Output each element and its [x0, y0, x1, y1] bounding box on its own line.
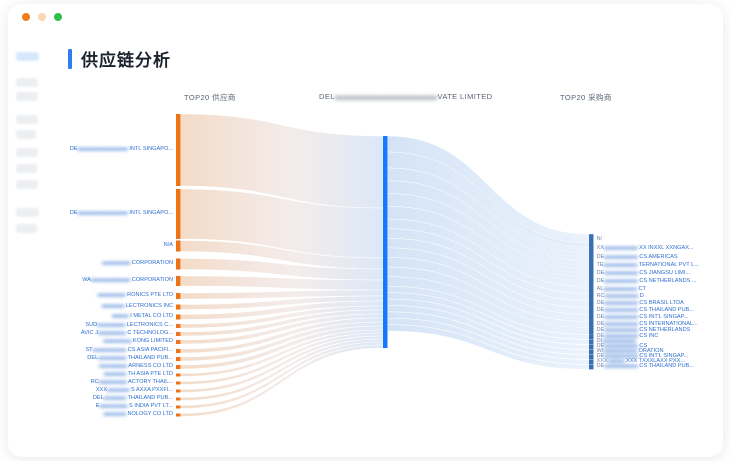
label-suffix: TH ASIA PTE LTD: [126, 371, 173, 377]
label-suffix: KONG LIMITED: [131, 338, 173, 344]
sankey-target-node[interactable]: [589, 234, 594, 246]
label-redacted: ▬▬▬▬▬: [98, 330, 126, 336]
sankey-source-node[interactable]: [176, 349, 181, 353]
label-prefix: N/: [597, 236, 603, 242]
label-suffix: ACTORY THAIL...: [127, 379, 173, 385]
sankey-source-node[interactable]: [176, 276, 181, 286]
label-suffix: CS THAILAND PUB...: [638, 363, 694, 369]
title-accent-bar: [68, 49, 72, 69]
sankey-link-left[interactable]: [181, 310, 384, 336]
sankey-link-left[interactable]: [181, 342, 384, 409]
sankey-target-label: TE▬▬▬▬▬▬ TERNATIONAL PVT L...: [597, 263, 699, 269]
label-suffix: NOLOGY CO LTD: [126, 411, 173, 417]
sankey-source-label: ▬▬▬ I METAL CO LTD: [112, 314, 173, 320]
sankey-target-node[interactable]: [589, 321, 594, 328]
app-root: 供应链分析 TOP20 供应商 DEL▬▬▬▬▬▬▬▬▬▬▬▬▬VATE LIM…: [0, 0, 731, 461]
sankey-link-right[interactable]: [388, 206, 590, 286]
sankey-target-node[interactable]: [589, 365, 594, 370]
sankey-link-left[interactable]: [181, 276, 384, 290]
maximize-icon[interactable]: [54, 13, 62, 21]
column-caption-suppliers: TOP20 供应商: [184, 92, 236, 103]
label-suffix: S AXXA PXXFI...: [129, 387, 173, 393]
sankey-link-left[interactable]: [181, 345, 384, 417]
label-suffix: CS BRASIL LTDA: [638, 300, 684, 306]
label-suffix: S INDIA PVT LT...: [128, 403, 174, 409]
sankey-target-node[interactable]: [589, 277, 594, 286]
sankey-source-node[interactable]: [176, 189, 181, 239]
traffic-light-dots: [22, 13, 62, 21]
browser-window: 供应链分析 TOP20 供应商 DEL▬▬▬▬▬▬▬▬▬▬▬▬▬VATE LIM…: [8, 4, 723, 457]
sankey-source-label: SUD▬▬▬▬▬ LECTRONICS C...: [85, 323, 173, 329]
label-redacted: ▬▬▬▬▬: [98, 355, 126, 361]
label-prefix: DE: [597, 307, 605, 313]
label-redacted: ▬▬▬▬▬: [103, 338, 131, 344]
label-prefix: RC: [597, 293, 605, 299]
sankey-link-right[interactable]: [388, 229, 590, 301]
sankey-source-node[interactable]: [176, 305, 181, 310]
label-prefix: DE: [597, 278, 605, 284]
sankey-link-right[interactable]: [388, 248, 590, 315]
sankey-source-node[interactable]: [176, 357, 181, 361]
sankey-link-right[interactable]: [388, 152, 590, 255]
sankey-source-node[interactable]: [176, 340, 181, 344]
label-suffix: LECTRONICS C...: [125, 322, 173, 328]
sankey-source-label: DE▬▬▬▬▬▬▬▬▬ INTL SINGAPO...: [70, 147, 173, 153]
sankey-source-label: ▬▬▬▬ NOLOGY CO LTD: [104, 412, 173, 418]
sankey-source-label: ▬▬▬▬▬ KONG LIMITED: [103, 339, 173, 345]
label-suffix: CS INC: [638, 333, 659, 339]
label-redacted: ▬▬▬▬▬▬: [604, 245, 638, 251]
label-prefix: DE: [597, 314, 605, 320]
label-prefix: WA: [82, 277, 91, 283]
sidebar-item-8[interactable]: [16, 180, 38, 189]
sankey-source-node[interactable]: [176, 259, 181, 270]
sankey-target-node[interactable]: [589, 340, 594, 345]
label-suffix: XX INXXL XXNGAX...: [638, 245, 694, 251]
label-prefix: DEL: [87, 355, 98, 361]
sankey-source-label: DEL▬▬▬▬▬ THAILAND PUB...: [87, 356, 173, 362]
sankey-source-label: DEL▬▬▬▬ THAILAND PUB...: [93, 396, 173, 402]
label-redacted: ▬▬▬▬▬▬▬▬▬: [77, 210, 127, 216]
column-caption-hub: DEL▬▬▬▬▬▬▬▬▬▬▬▬▬VATE LIMITED: [319, 92, 492, 101]
label-suffix: ARNESS CO LTD: [127, 363, 173, 369]
sankey-link-right[interactable]: [388, 238, 590, 307]
sankey-link-left[interactable]: [181, 259, 384, 281]
label-suffix: INTL SINGAPO...: [128, 146, 173, 152]
label-prefix: XXX: [96, 387, 107, 393]
sankey-source-label: XXX▬▬▬▬ S AXXA PXXFI...: [96, 388, 173, 394]
sankey-link-left[interactable]: [181, 326, 384, 369]
sankey-link-right[interactable]: [388, 325, 590, 370]
hub-caption-redacted: ▬▬▬▬▬▬▬▬▬▬▬▬▬: [335, 92, 438, 101]
sankey-target-node[interactable]: [589, 269, 594, 278]
sankey-target-node[interactable]: [589, 350, 594, 355]
hub-caption-suffix: VATE LIMITED: [438, 92, 493, 101]
sankey-link-right[interactable]: [388, 318, 590, 364]
sankey-link-right[interactable]: [388, 136, 590, 246]
sankey-source-label: ▬▬▬▬▬ CORPORATION: [102, 261, 173, 267]
sankey-source-label: WA▬▬▬▬▬▬▬ CORPORATION: [82, 278, 173, 284]
label-suffix: CS INT'L SINGAP...: [638, 314, 689, 320]
hub-caption-prefix: DEL: [319, 92, 335, 101]
sidebar-item-7[interactable]: [16, 164, 37, 173]
label-prefix: DE: [597, 300, 605, 306]
label-suffix: CS NETHERLANDS ...: [638, 278, 697, 284]
sankey-links-right: [388, 136, 590, 369]
label-prefix: AVIC J: [81, 330, 98, 336]
sankey-link-right[interactable]: [388, 168, 590, 263]
sankey-target-node[interactable]: [589, 335, 594, 340]
sankey-target-node[interactable]: [589, 345, 594, 350]
label-redacted: ▬▬▬▬▬: [98, 292, 126, 298]
label-prefix: AL: [597, 286, 604, 292]
sankey-source-node[interactable]: [176, 332, 181, 336]
sankey-target-label: DE▬▬▬▬▬▬ CS NETHERLANDS ...: [597, 279, 697, 285]
sankey-source-label: E▬▬▬▬▬ S INDIA PVT LT...: [96, 404, 173, 410]
sankey-link-right[interactable]: [388, 219, 590, 293]
sankey-source-node[interactable]: [176, 382, 181, 385]
sankey-link-left[interactable]: [181, 318, 384, 353]
label-redacted: ▬▬▬▬▬▬: [605, 293, 639, 299]
label-redacted: ▬▬▬▬▬▬: [93, 347, 127, 353]
sankey-source-label: DE▬▬▬▬▬▬▬▬▬ INTL SINGAPO...: [70, 211, 173, 217]
sankey-target-node[interactable]: [589, 307, 594, 314]
label-prefix: DE: [70, 210, 78, 216]
label-prefix: DE: [597, 270, 605, 276]
label-prefix: DE: [70, 146, 78, 152]
sankey-source-node[interactable]: [176, 315, 181, 320]
sankey-source-node[interactable]: [176, 293, 181, 299]
label-redacted: ▬▬▬▬▬: [100, 403, 128, 409]
sidebar-item-9[interactable]: [16, 208, 39, 217]
sankey-link-left[interactable]: [181, 333, 384, 385]
sidebar-item-4[interactable]: [16, 115, 38, 124]
label-suffix: N/A: [164, 242, 173, 248]
sankey-link-right[interactable]: [388, 299, 590, 349]
label-redacted: ▬▬▬▬: [104, 395, 126, 401]
sankey-target-node[interactable]: [589, 360, 594, 365]
sankey-target-label: RC▬▬▬▬▬▬ D: [597, 294, 644, 300]
sankey-source-label: ▬▬▬▬▬ ARNESS CO LTD: [99, 364, 173, 370]
sankey-source-label: ▬▬▬▬ TH ASIA PTE LTD: [104, 372, 173, 378]
sankey-source-node[interactable]: [176, 406, 181, 409]
sankey-source-node[interactable]: [176, 114, 181, 186]
sankey-source-node[interactable]: [176, 324, 181, 328]
label-redacted: ▬▬▬▬: [107, 387, 129, 393]
label-redacted: ▬▬▬▬▬: [97, 322, 125, 328]
sidebar-item-10[interactable]: [16, 224, 37, 233]
sankey-link-right[interactable]: [388, 277, 590, 335]
label-suffix: THAILAND PUB...: [126, 355, 173, 361]
sidebar-item-2[interactable]: [16, 78, 38, 87]
label-redacted: ▬▬▬▬▬▬: [604, 262, 638, 268]
label-prefix: RC: [91, 379, 99, 385]
sidebar-item-6[interactable]: [16, 148, 38, 157]
sankey-hub-node[interactable]: [383, 136, 388, 348]
label-redacted: ▬▬▬▬: [104, 411, 126, 417]
sankey-target-label: N/: [597, 237, 603, 243]
label-suffix: CORPORATION: [130, 260, 173, 266]
label-prefix: DE: [597, 363, 605, 369]
sankey-source-label: ST▬▬▬▬▬▬ CS ASIA PACIFI...: [85, 348, 173, 354]
page-title-group: 供应链分析: [68, 46, 171, 71]
sankey-target-node[interactable]: [589, 300, 594, 307]
label-suffix: CS JIANGSU LIMI...: [638, 270, 690, 276]
label-suffix: CS ASIA PACIFI...: [126, 347, 173, 353]
sankey-link-right[interactable]: [388, 286, 590, 339]
label-redacted: ▬▬▬: [112, 313, 129, 319]
sankey-link-left[interactable]: [181, 189, 384, 258]
label-redacted: ▬▬▬▬: [102, 303, 124, 309]
sankey-target-label: AL▬▬▬▬▬▬ CT: [597, 287, 646, 293]
sankey-target-label: DE▬▬▬▬▬▬ CS INT'L SINGAP...: [597, 315, 689, 321]
sankey-link-right[interactable]: [388, 312, 590, 359]
sankey-target-node[interactable]: [589, 293, 594, 300]
sankey-link-left[interactable]: [181, 306, 384, 328]
sankey-link-right[interactable]: [388, 293, 590, 345]
label-suffix: I METAL CO LTD: [129, 313, 173, 319]
page-title: 供应链分析: [81, 46, 171, 71]
sankey-link-right[interactable]: [388, 194, 590, 279]
sankey-source-node[interactable]: [176, 241, 181, 252]
close-icon[interactable]: [22, 13, 30, 21]
sankey-target-node[interactable]: [589, 286, 594, 293]
label-suffix: CT: [637, 286, 646, 292]
label-prefix: DE: [597, 254, 605, 260]
label-suffix: LECTRONICS INC: [124, 303, 173, 309]
sankey-link-left[interactable]: [181, 290, 384, 299]
label-suffix: INTL SINGAPO...: [128, 210, 173, 216]
sankey-link-left[interactable]: [181, 301, 384, 320]
sankey-link-left[interactable]: [181, 296, 384, 310]
sankey-link-right[interactable]: [388, 305, 590, 354]
sankey-target-label: DE▬▬▬▬▬▬ CS JIANGSU LIMI...: [597, 271, 691, 277]
sankey-target-node[interactable]: [589, 243, 594, 255]
sankey-target-node[interactable]: [589, 355, 594, 360]
sidebar-item-3[interactable]: [16, 92, 38, 101]
sankey-link-left[interactable]: [181, 339, 384, 401]
sankey-link-right[interactable]: [388, 258, 590, 322]
sankey-target-label: DE▬▬▬▬▬▬ CS THAILAND PUB...: [597, 308, 695, 314]
label-redacted: ▬▬▬▬▬▬▬▬▬: [77, 146, 127, 152]
label-suffix: C TECHNOLOG...: [126, 330, 173, 336]
label-suffix: D: [638, 293, 644, 299]
label-redacted: ▬▬▬▬▬▬: [604, 300, 638, 306]
sidebar-item-1[interactable]: [16, 52, 39, 61]
sidebar-item-5[interactable]: [16, 130, 36, 139]
sankey-link-right[interactable]: [388, 267, 590, 328]
sankey-source-label: N/A: [164, 243, 173, 249]
label-redacted: ▬▬▬▬▬▬: [604, 270, 638, 276]
label-redacted: ▬▬▬▬▬▬: [604, 363, 638, 369]
label-suffix: CS THAILAND PUB...: [638, 307, 694, 313]
sankey-target-node[interactable]: [589, 261, 594, 270]
label-suffix: CS AMERICAS: [638, 254, 678, 260]
sidebar: [8, 30, 46, 457]
label-redacted: ▬▬▬▬▬▬: [603, 286, 637, 292]
sankey-target-label: DE▬▬▬▬▬▬ CS AMERICAS: [597, 255, 678, 261]
label-redacted: ▬▬▬▬▬▬: [604, 278, 638, 284]
sankey-source-node[interactable]: [176, 374, 181, 377]
sankey-link-left[interactable]: [181, 241, 384, 270]
sankey-link-left[interactable]: [181, 330, 384, 377]
column-caption-buyers: TOP20 采购商: [560, 92, 612, 103]
label-redacted: ▬▬▬▬▬▬▬: [91, 277, 130, 283]
sankey-link-left[interactable]: [181, 336, 384, 393]
minimize-icon[interactable]: [38, 13, 46, 21]
sankey-target-label: DE▬▬▬▬▬▬ CS THAILAND PUB...: [597, 364, 695, 370]
sankey-source-node[interactable]: [176, 414, 181, 417]
sankey-link-left[interactable]: [181, 114, 384, 208]
label-suffix: CORPORATION: [130, 277, 173, 283]
sankey-link-left[interactable]: [181, 314, 384, 344]
label-redacted: ▬▬▬▬▬: [99, 363, 127, 369]
label-suffix: THAILAND PUB...: [126, 395, 173, 401]
label-suffix: RONICS PTE LTD: [126, 292, 173, 298]
label-suffix: TERNATIONAL PVT L...: [637, 262, 699, 268]
sankey-nodes: [176, 114, 594, 417]
sankey-source-label: AVIC J▬▬▬▬▬ C TECHNOLOG...: [81, 331, 173, 337]
sankey-target-label: DE▬▬▬▬▬▬ CS BRASIL LTDA: [597, 301, 684, 307]
label-redacted: ▬▬▬▬▬▬: [604, 254, 638, 260]
label-prefix: SUD: [85, 322, 97, 328]
sankey-target-node[interactable]: [589, 314, 594, 321]
label-redacted: ▬▬▬▬▬: [99, 379, 127, 385]
label-redacted: ▬▬▬▬▬: [102, 260, 130, 266]
window-titlebar: [8, 4, 723, 30]
sankey-source-label: ▬▬▬▬▬ RONICS PTE LTD: [98, 293, 173, 299]
sankey-source-node[interactable]: [176, 390, 181, 393]
label-redacted: ▬▬▬▬▬▬: [604, 314, 638, 320]
sankey-links-left: [181, 114, 384, 417]
label-prefix: DEL: [93, 395, 104, 401]
sankey-source-label: ▬▬▬▬ LECTRONICS INC: [102, 304, 173, 310]
sankey-target-node[interactable]: [589, 253, 594, 262]
sankey-target-label: XX▬▬▬▬▬▬ XX INXXL XXNGAX...: [597, 246, 694, 252]
label-redacted: ▬▬▬▬: [104, 371, 126, 377]
sankey-source-node[interactable]: [176, 365, 181, 369]
sankey-source-node[interactable]: [176, 398, 181, 401]
sankey-source-label: RC▬▬▬▬▬ ACTORY THAIL...: [91, 380, 173, 386]
label-redacted: ▬▬▬▬▬▬: [604, 307, 638, 313]
sankey-target-node[interactable]: [589, 327, 594, 334]
sankey-link-right[interactable]: [388, 181, 590, 271]
sankey-link-left[interactable]: [181, 322, 384, 361]
